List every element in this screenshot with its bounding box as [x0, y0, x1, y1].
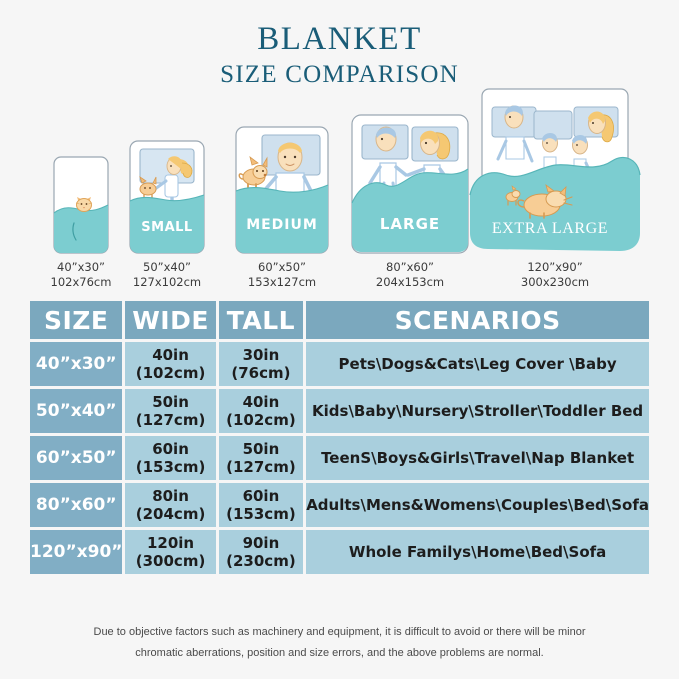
- bed-item-120x90: EXTRA LARGE 120”x90”300x230cm: [455, 87, 655, 290]
- table-row: 120”x90” 120in (300cm) 90in (230cm) Whol…: [30, 530, 649, 574]
- table-header-row: SIZE WIDE TALL SCENARIOS: [30, 301, 649, 339]
- disclaimer-line-2: chromatic aberrations, position and size…: [0, 643, 679, 664]
- table-row: 60”x50” 60in (153cm) 50in (127cm) TeenS\…: [30, 436, 649, 480]
- bed-label-small: SMALL: [141, 220, 192, 235]
- bed-size-inches: 40”x30”: [57, 260, 105, 274]
- cell-size: 40”x30”: [30, 342, 122, 386]
- column-header-size: SIZE: [30, 301, 122, 339]
- cell-tall: 90in (230cm): [219, 530, 304, 574]
- cell-wide: 120in (300cm): [125, 530, 215, 574]
- cell-scenarios: Adults\Mens&Womens\Couples\Bed\Sofa: [306, 483, 649, 527]
- cell-tall: 30in (76cm): [219, 342, 304, 386]
- page-subtitle: SIZE COMPARISON: [0, 59, 679, 90]
- page-title: BLANKET: [0, 22, 679, 57]
- cell-scenarios: TeenS\Boys&Girls\Travel\Nap Blanket: [306, 436, 649, 480]
- cell-wide: 60in (153cm): [125, 436, 215, 480]
- disclaimer-note: Due to objective factors such as machine…: [0, 622, 679, 665]
- bed-size-inches: 60”x50”: [258, 260, 306, 274]
- column-header-scenarios: SCENARIOS: [306, 301, 649, 339]
- title-block: BLANKET SIZE COMPARISON: [0, 0, 679, 90]
- bed-illustration-xlarge-family: EXTRA LARGE: [460, 87, 650, 255]
- bed-size-cm: 127x102cm: [133, 275, 201, 289]
- bed-size-inches: 120”x90”: [527, 260, 582, 274]
- cell-scenarios: Pets\Dogs&Cats\Leg Cover \Baby: [306, 342, 649, 386]
- bed-item-50x40: SMALL 50”x40”127x102cm: [108, 139, 226, 290]
- cell-wide: 40in (102cm): [125, 342, 215, 386]
- cell-scenarios: Kids\Baby\Nursery\Stroller\Toddler Bed: [306, 389, 649, 433]
- cell-size: 120”x90”: [30, 530, 122, 574]
- bed-size-cm: 102x76cm: [51, 275, 112, 289]
- bed-size-cm: 153x127cm: [248, 275, 316, 289]
- cell-tall: 50in (127cm): [219, 436, 304, 480]
- bed-label-large: LARGE: [380, 215, 440, 233]
- column-header-wide: WIDE: [125, 301, 215, 339]
- bed-caption-50x40: 50”x40”127x102cm: [108, 260, 226, 290]
- bed-illustration-small-girl-dog: SMALL: [128, 139, 206, 255]
- cell-wide: 80in (204cm): [125, 483, 215, 527]
- bed-illustration-medium-man-dog: MEDIUM: [234, 125, 330, 255]
- table-row: 40”x30” 40in (102cm) 30in (76cm) Pets\Do…: [30, 342, 649, 386]
- table-row: 50”x40” 50in (127cm) 40in (102cm) Kids\B…: [30, 389, 649, 433]
- disclaimer-line-1: Due to objective factors such as machine…: [0, 622, 679, 643]
- table-header: SIZE WIDE TALL SCENARIOS: [30, 301, 649, 339]
- table-body: 40”x30” 40in (102cm) 30in (76cm) Pets\Do…: [30, 342, 649, 574]
- table-row: 80”x60” 80in (204cm) 60in (153cm) Adults…: [30, 483, 649, 527]
- cell-tall: 40in (102cm): [219, 389, 304, 433]
- bed-size-inches: 80”x60”: [386, 260, 434, 274]
- cell-size: 50”x40”: [30, 389, 122, 433]
- bed-caption-120x90: 120”x90”300x230cm: [455, 260, 655, 290]
- cell-size: 80”x60”: [30, 483, 122, 527]
- bed-illustrations-row: 40”x30”102x76cm: [0, 100, 679, 290]
- column-header-tall: TALL: [219, 301, 304, 339]
- bed-size-inches: 50”x40”: [143, 260, 191, 274]
- bed-illustration-large-couple: LARGE: [350, 113, 470, 255]
- bed-label-medium: MEDIUM: [246, 217, 318, 233]
- cell-tall: 60in (153cm): [219, 483, 304, 527]
- bed-size-cm: 300x230cm: [521, 275, 589, 289]
- bed-label-extra-large: EXTRA LARGE: [492, 220, 608, 237]
- cell-scenarios: Whole Familys\Home\Bed\Sofa: [306, 530, 649, 574]
- size-comparison-table: SIZE WIDE TALL SCENARIOS 40”x30” 40in (1…: [27, 298, 652, 577]
- cell-wide: 50in (127cm): [125, 389, 215, 433]
- cell-size: 60”x50”: [30, 436, 122, 480]
- bed-size-cm: 204x153cm: [376, 275, 444, 289]
- bed-illustration-xsmall-cat: [52, 155, 110, 255]
